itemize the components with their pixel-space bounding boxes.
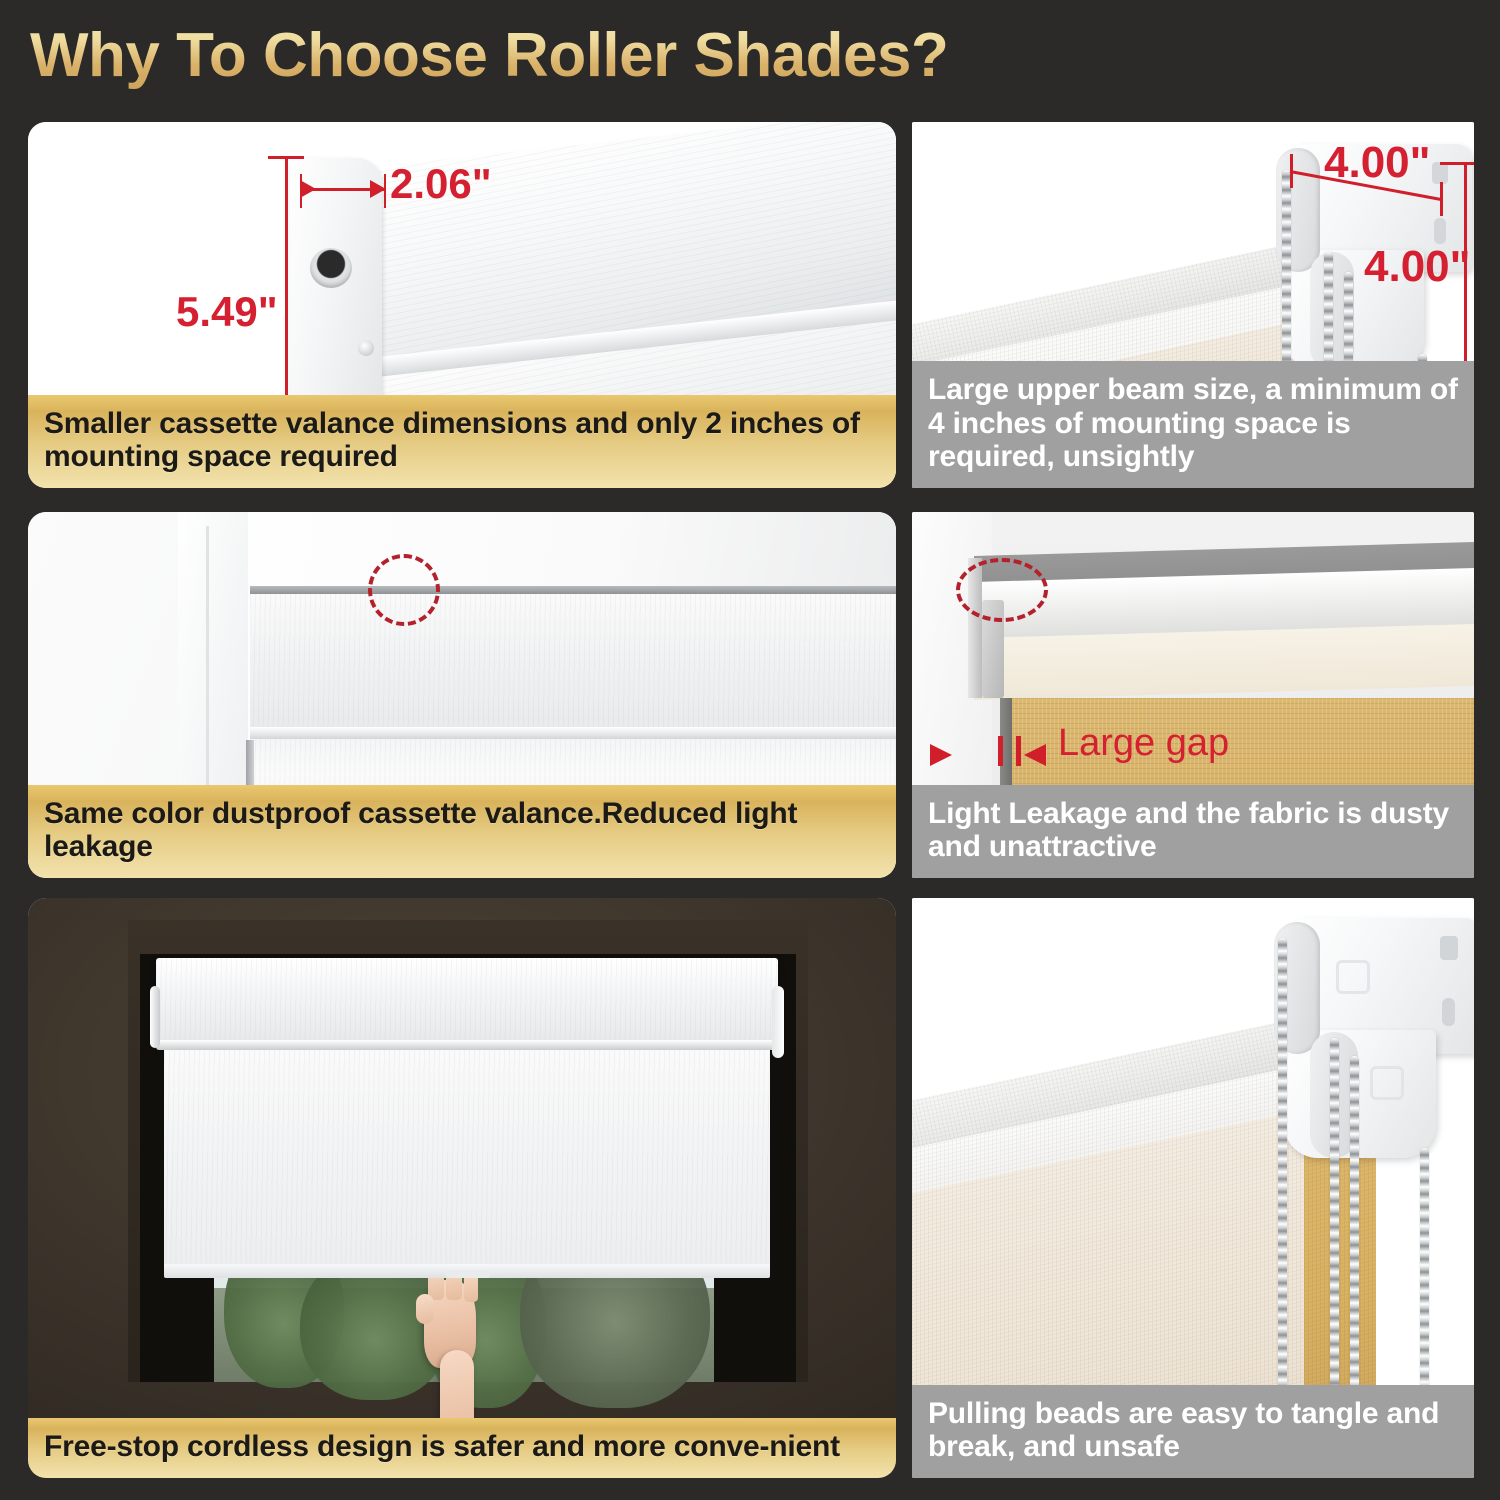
caption-panel-3: Same color dustproof cassette valance.Re… xyxy=(28,785,896,878)
casing-reveal-line xyxy=(206,526,209,826)
beam-width-label: 4.00" xyxy=(1324,138,1431,188)
caption-panel-6: Pulling beads are easy to tangle and bre… xyxy=(912,1385,1474,1478)
caption-panel-2: Large upper beam size, a minimum of 4 in… xyxy=(912,361,1474,488)
shade-fabric xyxy=(164,1050,770,1272)
panel-cordless-design: Free-stop cordless design is safer and m… xyxy=(28,898,896,1478)
cassette-bottom-lip xyxy=(250,727,896,739)
beam-height-tick-top xyxy=(1440,162,1474,165)
height-dim-tick-top xyxy=(268,156,304,159)
shade-pull-tab xyxy=(446,1270,490,1278)
panel-pulling-beads: Pulling beads are easy to tangle and bre… xyxy=(912,898,1474,1478)
beam-height-label: 4.00" xyxy=(1364,242,1471,292)
cassette-valance xyxy=(156,958,778,1044)
width-dim-arrow-right xyxy=(370,180,386,198)
bracket-slot-icon-2 xyxy=(1434,218,1446,244)
valance-end-cap xyxy=(290,158,382,430)
gap-arrow-right xyxy=(1024,744,1046,766)
infographic-root: Why To Choose Roller Shades? 2.06" 5.49 xyxy=(0,0,1500,1500)
gap-tick-right xyxy=(1016,736,1021,766)
end-cap-screw-icon xyxy=(358,340,374,356)
large-gap-label: Large gap xyxy=(1058,722,1229,765)
highlight-circle-annotation xyxy=(956,558,1048,622)
height-dimension-label: 5.49" xyxy=(176,288,278,336)
end-cap-bore-hole-icon xyxy=(310,248,352,288)
gap-tick-left xyxy=(998,736,1003,766)
bracket-slot-icon-2 xyxy=(1442,998,1455,1026)
valance-end-right xyxy=(772,986,784,1058)
panel-light-leakage: Large gap Light Leakage and the fabric i… xyxy=(912,512,1474,878)
highlight-circle-annotation xyxy=(368,554,440,626)
bracket-slot-icon-1 xyxy=(1432,162,1448,184)
cassette-top-edge xyxy=(250,586,896,594)
panel-dustproof-cassette: smaller gap Same color dustproof cassett… xyxy=(28,512,896,878)
photo-room-window-cordless-shade xyxy=(28,898,896,1478)
panel-smaller-cassette: 2.06" 5.49" Smaller cassette valance dim… xyxy=(28,122,896,488)
valance-end-left xyxy=(150,986,160,1048)
window-casing-left xyxy=(178,512,248,802)
bracket-slot-icon-1 xyxy=(1440,936,1458,960)
width-dimension-label: 2.06" xyxy=(390,160,492,208)
panel-large-upper-beam: 4.00" 4.00" Large upper beam size, a min… xyxy=(912,122,1474,488)
caption-panel-4: Light Leakage and the fabric is dusty an… xyxy=(912,785,1474,878)
cassette-face xyxy=(250,594,896,734)
thumb xyxy=(416,1294,434,1324)
bracket-emboss-icon-1 xyxy=(1336,960,1370,994)
bracket-emboss-icon-2 xyxy=(1370,1066,1404,1100)
caption-panel-1: Smaller cassette valance dimensions and … xyxy=(28,395,896,488)
page-title: Why To Choose Roller Shades? xyxy=(30,16,1130,96)
caption-panel-5: Free-stop cordless design is safer and m… xyxy=(28,1418,896,1478)
gap-arrow-left xyxy=(930,744,952,766)
valance-bottom-rail xyxy=(156,1040,778,1050)
width-dim-arrow-left xyxy=(300,180,316,198)
